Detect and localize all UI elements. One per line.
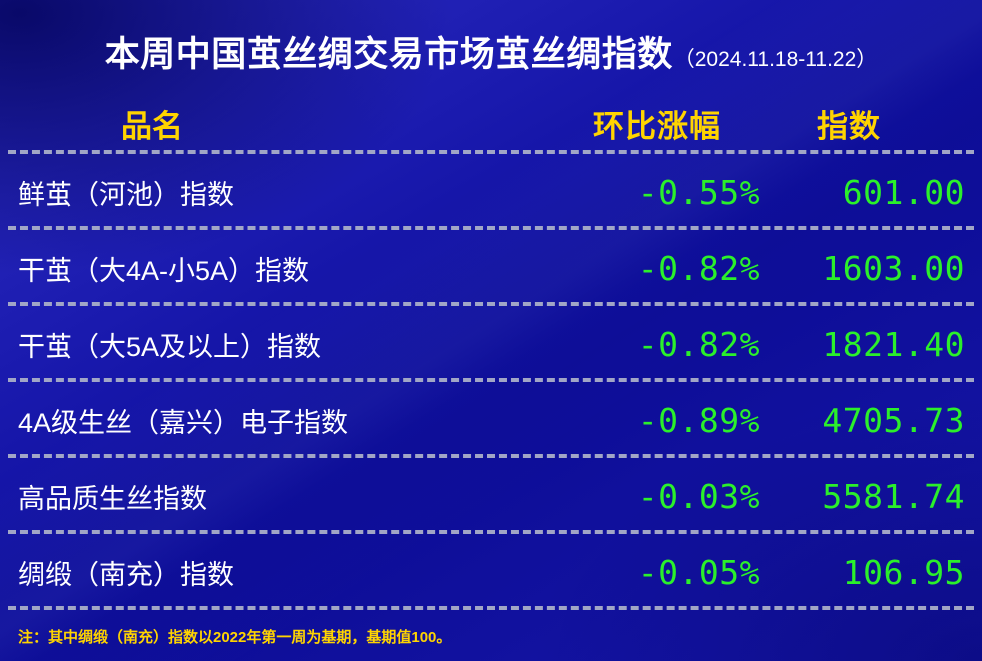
row-name: 高品质生丝指数 [0,477,560,516]
column-header-name: 品名 [0,101,560,146]
row-change-value: -0.82% [560,325,760,364]
row-index-value: 601.00 [760,173,982,212]
row-change-value: -0.03% [560,477,760,516]
row-name: 干茧（大5A及以上）指数 [0,325,560,364]
table-row: 干茧（大5A及以上）指数 -0.82% 1821.40 [0,306,982,382]
index-table: 品名 环比涨幅 指数 鲜茧（河池）指数 -0.55% 601.00 干茧（大4A… [0,92,982,610]
row-name: 干茧（大4A-小5A）指数 [0,249,560,288]
page-title-main: 本周中国茧丝绸交易市场茧丝绸指数 [105,26,673,77]
row-change-value: -0.55% [560,173,760,212]
table-row: 4A级生丝（嘉兴）电子指数 -0.89% 4705.73 [0,382,982,458]
table-header-row: 品名 环比涨幅 指数 [0,92,982,154]
column-header-change: 环比涨幅 [560,101,760,146]
row-change-value: -0.82% [560,249,760,288]
table-row: 干茧（大4A-小5A）指数 -0.82% 1603.00 [0,230,982,306]
index-board: 本周中国茧丝绸交易市场茧丝绸指数 （2024.11.18-11.22） 品名 环… [0,0,982,661]
row-index-value: 5581.74 [760,477,982,516]
row-index-value: 1821.40 [760,325,982,364]
column-header-index: 指数 [760,101,982,146]
row-name: 4A级生丝（嘉兴）电子指数 [0,401,560,440]
row-change-value: -0.89% [560,401,760,440]
table-row: 绸缎（南充）指数 -0.05% 106.95 [0,534,982,610]
page-title: 本周中国茧丝绸交易市场茧丝绸指数 （2024.11.18-11.22） [0,26,982,78]
row-change-value: -0.05% [560,553,760,592]
table-row: 高品质生丝指数 -0.03% 5581.74 [0,458,982,534]
table-row: 鲜茧（河池）指数 -0.55% 601.00 [0,154,982,230]
row-name: 绸缎（南充）指数 [0,553,560,592]
row-index-value: 106.95 [760,553,982,592]
row-index-value: 1603.00 [760,249,982,288]
row-name: 鲜茧（河池）指数 [0,173,560,212]
row-index-value: 4705.73 [760,401,982,440]
footnote: 注：其中绸缎（南充）指数以2022年第一周为基期，基期值100。 [18,626,451,647]
page-title-date-range: （2024.11.18-11.22） [674,43,878,73]
row-separator [8,606,974,610]
